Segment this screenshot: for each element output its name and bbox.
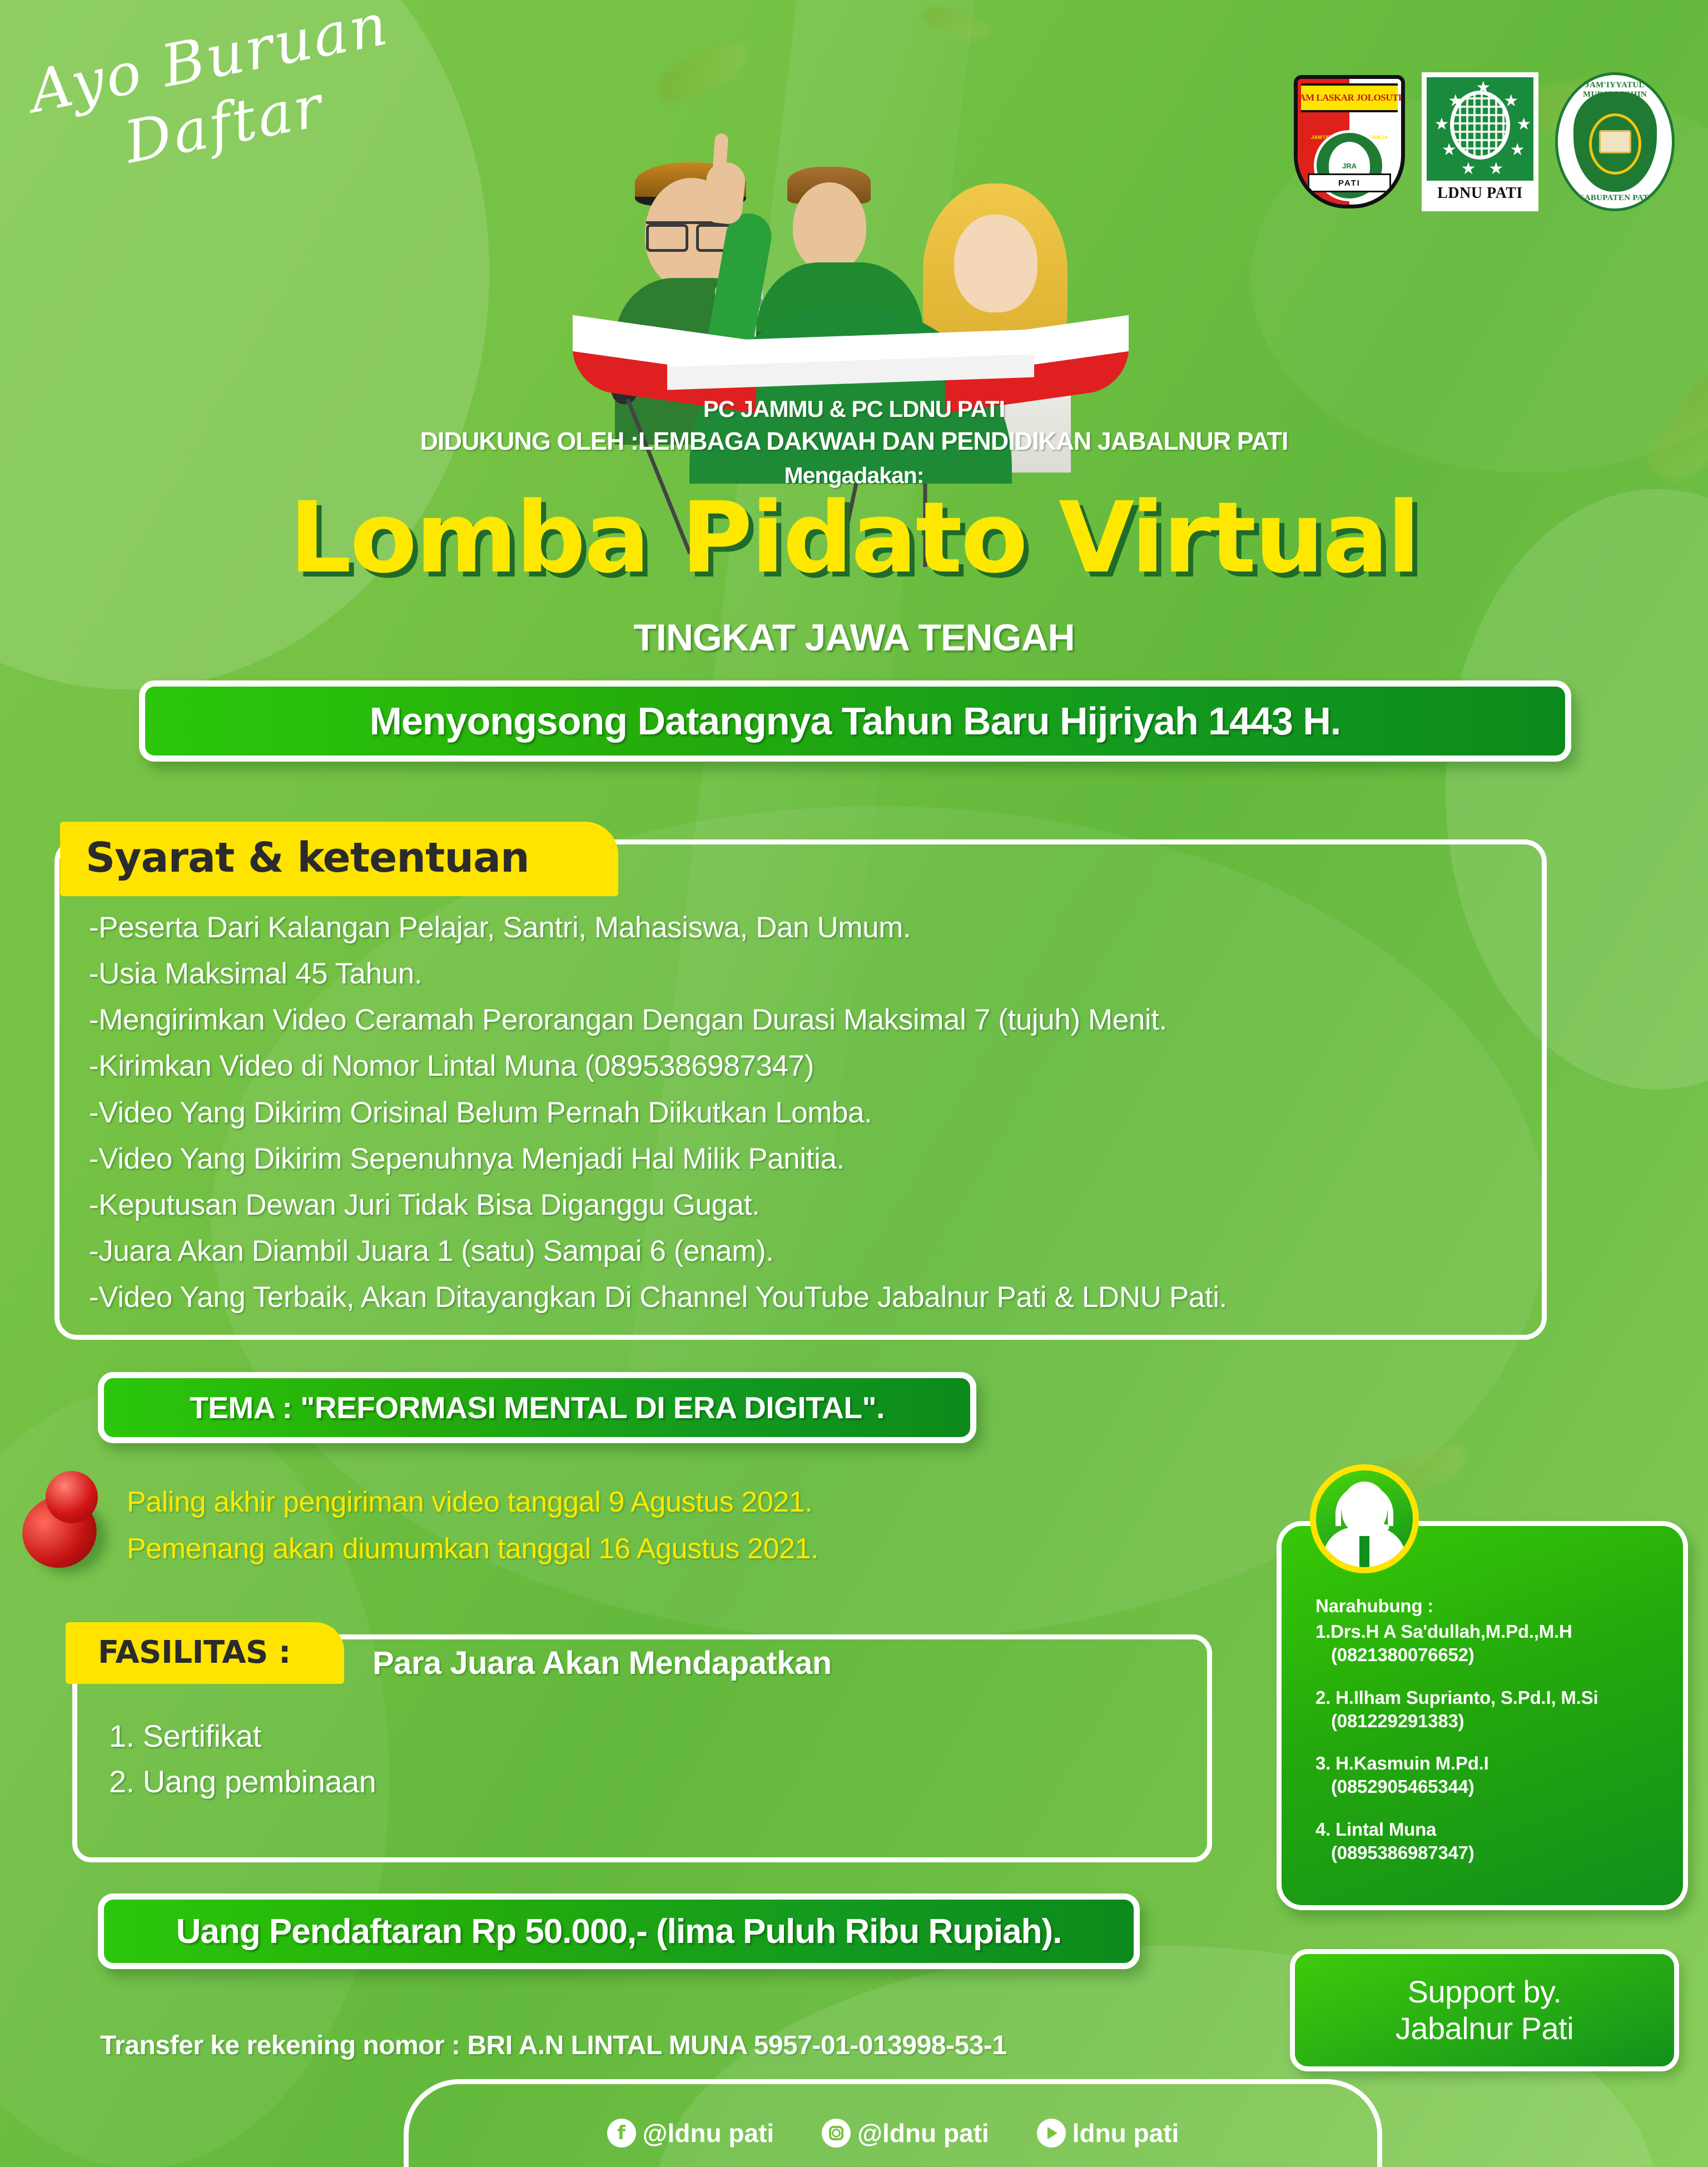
contact-list: Narahubung : 1.Drs.H A Sa'dullah,M.Pd.,M… xyxy=(1315,1594,1682,1883)
contact-entry: 1.Drs.H A Sa'dullah,M.Pd.,M.H (082138007… xyxy=(1315,1620,1682,1667)
contact-phone: (0852905465344) xyxy=(1315,1775,1682,1798)
organizer-line: PC JAMMU & PC LDNU PATI xyxy=(0,396,1708,423)
nu-logo-icon: ★ ★ ★ ★ ★ ★ ★ ★ ★ LDNU PATI xyxy=(1422,72,1538,211)
logo-team-laskar-jolosutro: TEAM LASKAR JOLOSUTRO JAM'IYYAH RUQYAH A… xyxy=(1294,75,1405,208)
list-item: -Video Yang Dikirim Orisinal Belum Perna… xyxy=(89,1092,1546,1133)
facilities-heading: Para Juara Akan Mendapatkan xyxy=(373,1644,832,1682)
support-by-name: Jabalnur Pati xyxy=(1396,2010,1573,2047)
poster-canvas: Ayo Buruan Daftar TEAM LASKAR JOLOSUTRO … xyxy=(0,0,1708,2167)
oval-bottom-label: KABUPATEN PATI xyxy=(1558,193,1672,203)
contact-heading: Narahubung : xyxy=(1315,1594,1682,1618)
contact-name: 1.Drs.H A Sa'dullah,M.Pd.,M.H xyxy=(1315,1621,1572,1642)
list-item: -Kirimkan Video di Nomor Lintal Muna (08… xyxy=(89,1046,1546,1086)
pushpin-icon xyxy=(17,1467,111,1572)
youtube-handle: ldnu pati xyxy=(1073,2118,1179,2148)
list-item: 2. Uang pembinaan xyxy=(109,1759,376,1805)
list-item: -Usia Maksimal 45 Tahun. xyxy=(89,953,1546,994)
page-subtitle: TINGKAT JAWA TENGAH xyxy=(0,616,1708,659)
supported-by-line: DIDUKUNG OLEH :LEMBAGA DAKWAH DAN PENDID… xyxy=(0,427,1708,456)
announcement-date: Pemenang akan diumumkan tanggal 16 Agust… xyxy=(127,1525,1183,1572)
contact-name: 4. Lintal Muna xyxy=(1315,1819,1436,1840)
terms-tab-label: Syarat & ketentuan xyxy=(60,822,618,896)
social-links: f @ldnu pati @ldnu pati ldnu pati xyxy=(404,2118,1382,2148)
hijriyah-banner: Menyongsong Datangnya Tahun Baru Hijriya… xyxy=(139,680,1571,762)
speakers-photo-group xyxy=(578,33,1123,423)
theme-banner: TEMA : "REFORMASI MENTAL DI ERA DIGITAL"… xyxy=(98,1372,976,1443)
nu-logo-caption: LDNU PATI xyxy=(1427,185,1533,202)
contact-entry: 3. H.Kasmuin M.Pd.I (0852905465344) xyxy=(1315,1752,1682,1798)
list-item: 1. Sertifikat xyxy=(109,1713,376,1759)
instagram-handle: @ldnu pati xyxy=(857,2118,989,2148)
bank-transfer-line: Transfer ke rekening nomor : BRI A.N LIN… xyxy=(100,2030,1007,2061)
social-facebook[interactable]: f @ldnu pati xyxy=(607,2118,774,2148)
contact-phone: (0895386987347) xyxy=(1315,1841,1682,1865)
facilities-tab-label: FASILITAS : xyxy=(66,1622,344,1684)
list-item: -Keputusan Dewan Juri Tidak Bisa Digangg… xyxy=(89,1185,1546,1225)
facilities-list: 1. Sertifikat 2. Uang pembinaan xyxy=(109,1713,376,1805)
contact-phone: (081229291383) xyxy=(1315,1709,1682,1733)
logo-jamiyyatul-muballighin: JAM'IYYATUL MUBALLIGHIN KABUPATEN PATI xyxy=(1555,72,1675,211)
facebook-handle: @ldnu pati xyxy=(643,2118,774,2148)
shield-band-label: TEAM LASKAR JOLOSUTRO xyxy=(1301,83,1398,112)
list-item: -Video Yang Terbaik, Akan Ditayangkan Di… xyxy=(89,1277,1546,1318)
script-headline: Ayo Buruan Daftar xyxy=(25,0,475,244)
support-agent-icon xyxy=(1310,1464,1419,1573)
terms-list: -Peserta Dari Kalangan Pelajar, Santri, … xyxy=(89,907,1546,1323)
facebook-icon[interactable]: f xyxy=(607,2119,636,2148)
list-item: -Peserta Dari Kalangan Pelajar, Santri, … xyxy=(89,907,1546,948)
contact-name: 3. H.Kasmuin M.Pd.I xyxy=(1315,1753,1489,1773)
contact-entry: 2. H.Ilham Suprianto, S.Pd.I, M.Si (0812… xyxy=(1315,1686,1682,1733)
contact-entry: 4. Lintal Muna (0895386987347) xyxy=(1315,1818,1682,1865)
list-item: -Video Yang Dikirim Sepenuhnya Menjadi H… xyxy=(89,1139,1546,1179)
contact-name: 2. H.Ilham Suprianto, S.Pd.I, M.Si xyxy=(1315,1687,1598,1708)
support-by-card: Support by. Jabalnur Pati xyxy=(1290,1949,1679,2071)
youtube-icon[interactable] xyxy=(1037,2119,1066,2148)
registration-fee-banner: Uang Pendaftaran Rp 50.000,- (lima Puluh… xyxy=(98,1893,1140,1969)
logo-row: TEAM LASKAR JOLOSUTRO JAM'IYYAH RUQYAH A… xyxy=(1294,72,1675,211)
instagram-icon[interactable] xyxy=(822,2119,851,2148)
deadline-dates: Paling akhir pengiriman video tanggal 9 … xyxy=(127,1479,1183,1572)
social-instagram[interactable]: @ldnu pati xyxy=(822,2118,989,2148)
list-item: -Mengirimkan Video Ceramah Perorangan De… xyxy=(89,1000,1546,1040)
shield-ribbon-label: PATI xyxy=(1308,173,1391,192)
list-item: -Juara Akan Diambil Juara 1 (satu) Sampa… xyxy=(89,1231,1546,1271)
page-title: Lomba Pidato Virtual xyxy=(0,489,1708,587)
support-by-label: Support by. xyxy=(1408,1974,1562,2010)
shield-icon: TEAM LASKAR JOLOSUTRO JAM'IYYAH RUQYAH A… xyxy=(1294,75,1405,208)
contact-phone: (0821380076652) xyxy=(1315,1643,1682,1667)
oval-emblem-icon: JAM'IYYATUL MUBALLIGHIN KABUPATEN PATI xyxy=(1555,72,1675,211)
logo-ldnu-pati: ★ ★ ★ ★ ★ ★ ★ ★ ★ LDNU PATI xyxy=(1422,72,1538,211)
social-youtube[interactable]: ldnu pati xyxy=(1037,2118,1179,2148)
submission-deadline: Paling akhir pengiriman video tanggal 9 … xyxy=(127,1479,1183,1525)
